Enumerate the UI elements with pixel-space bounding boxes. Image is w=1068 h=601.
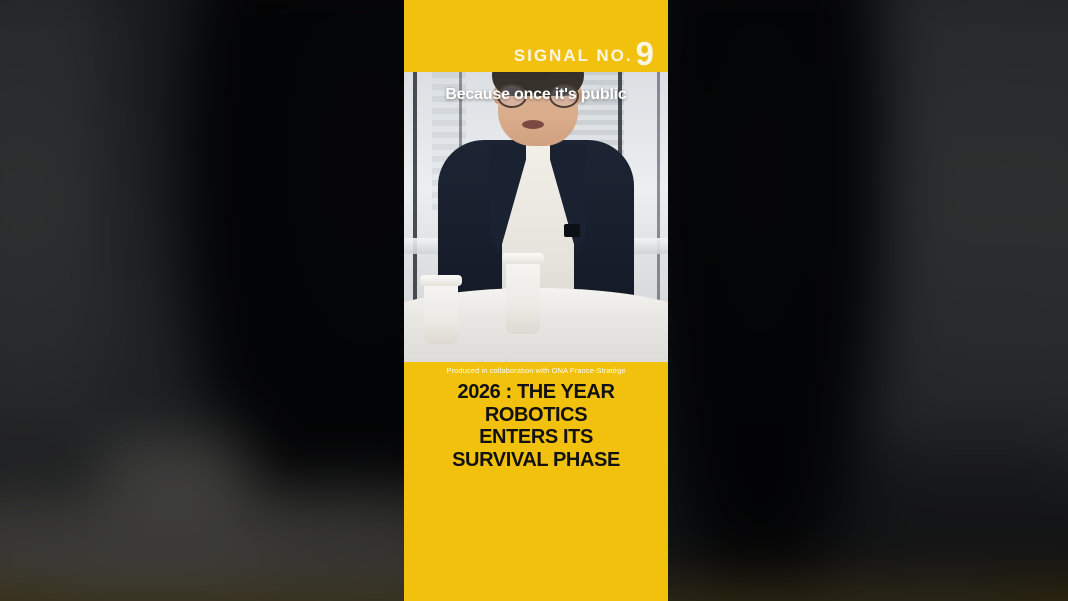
video-stage: Produced in collaboration with ONA Franc… [0,0,1068,601]
headline-line-3: SURVIVAL PHASE [410,449,662,472]
signal-banner: SIGNAL NO. 9 [404,0,668,72]
coffee-cup [506,260,540,334]
signal-banner-text: SIGNAL NO. 9 [514,37,654,66]
coffee-cup-lid [502,253,544,264]
video-caption: Because once it's public [404,86,668,104]
lapel-microphone-icon [564,224,580,237]
coffee-cup-lid [420,275,462,286]
subject-mouth [522,120,544,129]
signal-label: SIGNAL NO. [514,46,633,66]
signal-number: 9 [636,41,654,67]
subject-eyebrow-left [496,78,520,81]
subject-eyebrow-right [550,78,574,81]
white-table [404,288,668,362]
coffee-cup [424,282,458,344]
headline-line-2: ENTERS ITS [410,426,662,449]
video-headline: 2026 : THE YEAR ROBOTICS ENTERS ITS SURV… [410,381,662,471]
vertical-video-frame[interactable]: SIGNAL NO. 9 Because once it's public Pr… [404,0,668,601]
collaboration-credit: Produced in collaboration with ONA Franc… [404,366,668,375]
title-block: Produced in collaboration with ONA Franc… [404,362,668,601]
headline-line-1: 2026 : THE YEAR ROBOTICS [457,381,614,426]
